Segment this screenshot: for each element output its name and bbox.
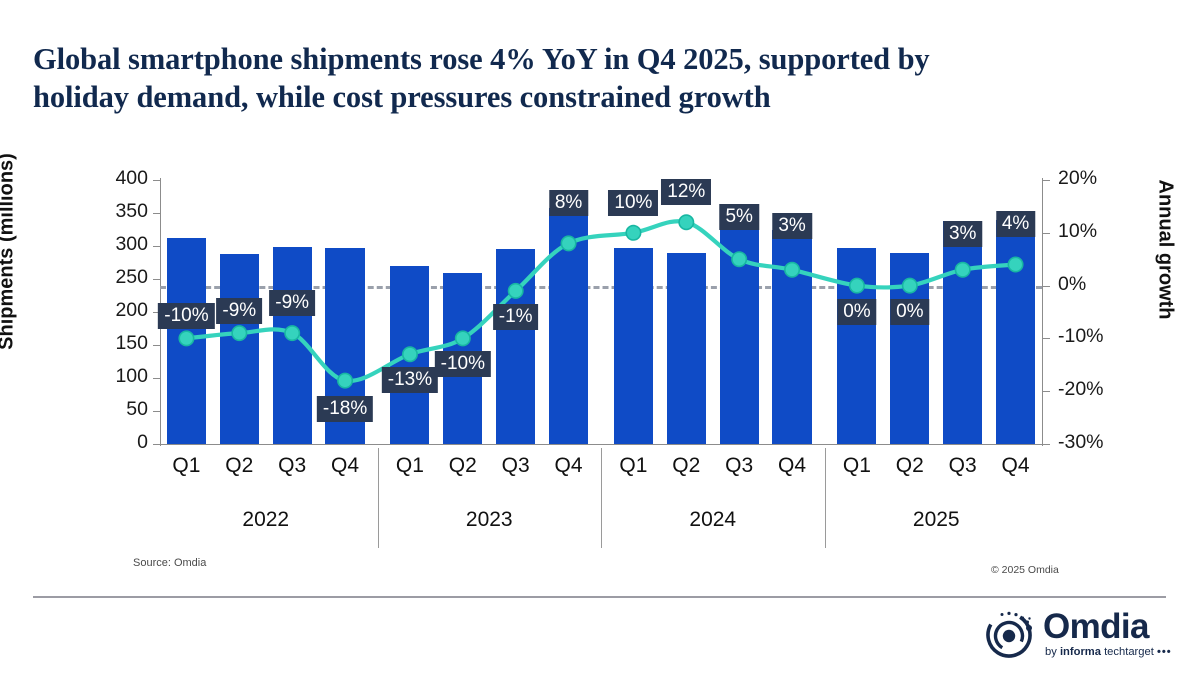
left-tick-label: 400: [115, 167, 148, 190]
line-marker: [508, 284, 522, 298]
right-tick: [1043, 338, 1050, 339]
line-marker: [403, 347, 417, 361]
left-tick: [153, 444, 160, 445]
group-separator: [825, 448, 826, 548]
x-tick-label: Q2: [896, 454, 924, 478]
omdia-logo: Omdia by informa techtarget •••: [985, 605, 1170, 665]
data-label: 8%: [549, 190, 588, 216]
x-group-label: 2022: [242, 508, 289, 532]
x-group-label: 2024: [689, 508, 736, 532]
x-group-label: 2023: [466, 508, 513, 532]
x-axis-year-labels: 2022202320242025: [160, 496, 1043, 548]
left-tick: [153, 279, 160, 280]
x-group-label: 2025: [913, 508, 960, 532]
left-tick: [153, 411, 160, 412]
footer-divider: [33, 596, 1166, 598]
source-note: Source: Omdia: [133, 557, 206, 569]
line-marker: [338, 373, 352, 387]
chart-area: 050100150200250300350400 -30%-20%-10%0%1…: [0, 150, 1200, 550]
line-marker: [626, 226, 640, 240]
line-marker: [179, 331, 193, 345]
x-tick-label: Q3: [502, 454, 530, 478]
left-tick: [153, 213, 160, 214]
right-tick-label: -10%: [1058, 325, 1104, 348]
left-tick: [153, 180, 160, 181]
line-marker: [732, 252, 746, 266]
x-tick-label: Q1: [172, 454, 200, 478]
plot-region: -10%-9%-9%-18%-13%-10%-1%8%10%12%5%3%0%0…: [160, 180, 1042, 444]
right-tick-label: 10%: [1058, 220, 1097, 243]
right-tick: [1043, 444, 1050, 445]
right-axis-title: Annual growth: [1154, 145, 1177, 355]
right-tick: [1043, 233, 1050, 234]
x-tick-label: Q4: [1002, 454, 1030, 478]
right-tick: [1043, 180, 1050, 181]
left-tick-label: 300: [115, 233, 148, 256]
data-label: 0%: [837, 299, 876, 325]
data-label: 10%: [608, 190, 658, 216]
left-tick-label: 50: [126, 398, 148, 421]
line-marker: [232, 326, 246, 340]
data-label: -10%: [435, 351, 491, 377]
data-label: 0%: [890, 299, 929, 325]
line-marker: [456, 331, 470, 345]
copyright-note: © 2025 Omdia: [991, 564, 1059, 576]
right-tick: [1043, 286, 1050, 287]
right-axis-line: [1042, 178, 1043, 446]
data-label: 12%: [661, 179, 711, 205]
right-tick-label: -30%: [1058, 431, 1104, 454]
data-label: 5%: [719, 204, 758, 230]
left-tick-label: 350: [115, 200, 148, 223]
right-tick: [1043, 391, 1050, 392]
x-tick-label: Q3: [278, 454, 306, 478]
line-marker: [903, 278, 917, 292]
x-tick-label: Q4: [778, 454, 806, 478]
left-tick-label: 250: [115, 266, 148, 289]
x-tick-label: Q4: [331, 454, 359, 478]
x-tick-label: Q1: [619, 454, 647, 478]
omdia-tagline: by informa techtarget •••: [1045, 646, 1172, 658]
left-axis-title: Shipments (millions): [0, 127, 19, 377]
data-label: -9%: [216, 298, 262, 324]
data-label: -9%: [269, 290, 315, 316]
x-tick-label: Q2: [449, 454, 477, 478]
line-marker: [955, 263, 969, 277]
data-label: 4%: [996, 211, 1035, 237]
line-marker: [561, 236, 575, 250]
left-tick-label: 100: [115, 365, 148, 388]
data-label: -1%: [493, 304, 539, 330]
line-marker: [850, 278, 864, 292]
right-tick-label: -20%: [1058, 378, 1104, 401]
x-tick-label: Q3: [949, 454, 977, 478]
data-label: -13%: [382, 367, 438, 393]
line-marker: [785, 263, 799, 277]
title-line-1: Global smartphone shipments rose 4% YoY …: [33, 42, 930, 76]
left-tick: [153, 378, 160, 379]
data-label: -10%: [158, 303, 214, 329]
data-label: -18%: [317, 396, 373, 422]
x-tick-label: Q3: [725, 454, 753, 478]
tagline-techtarget: techtarget: [1101, 646, 1154, 658]
x-tick-label: Q1: [843, 454, 871, 478]
left-tick: [153, 246, 160, 247]
line-marker: [1008, 257, 1022, 271]
left-tick-label: 150: [115, 332, 148, 355]
group-separator: [601, 448, 602, 548]
group-separator: [378, 448, 379, 548]
left-tick: [153, 345, 160, 346]
x-tick-label: Q2: [225, 454, 253, 478]
x-tick-label: Q4: [555, 454, 583, 478]
x-tick-label: Q2: [672, 454, 700, 478]
slide-canvas: Global smartphone shipments rose 4% YoY …: [0, 0, 1200, 675]
line-marker: [679, 215, 693, 229]
left-tick-label: 0: [137, 431, 148, 454]
tagline-dots: •••: [1157, 646, 1172, 658]
left-tick-label: 200: [115, 299, 148, 322]
tagline-prefix: by: [1045, 646, 1060, 658]
right-tick-label: 0%: [1058, 273, 1086, 296]
x-tick-label: Q1: [396, 454, 424, 478]
line-marker: [285, 326, 299, 340]
title-line-2: holiday demand, while cost pressures con…: [33, 78, 1173, 116]
page-title: Global smartphone shipments rose 4% YoY …: [33, 40, 1173, 117]
omdia-wordmark: Omdia: [1043, 609, 1149, 644]
data-label: 3%: [943, 221, 982, 247]
right-tick-label: 20%: [1058, 167, 1097, 190]
tagline-informa: informa: [1060, 646, 1101, 658]
data-label: 3%: [772, 213, 811, 239]
omdia-logo-mark-icon: [985, 609, 1037, 661]
